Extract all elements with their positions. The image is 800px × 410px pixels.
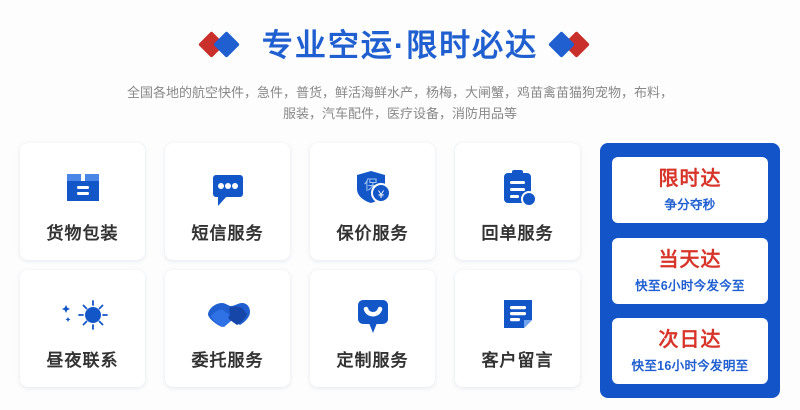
box-package-icon xyxy=(58,159,108,215)
diamond-pair-right-icon xyxy=(552,32,598,58)
page-header: 专业空运·限时必达 全国各地的航空快件，急件，普货，鲜活海鲜水产，杨梅，大闸蟹，… xyxy=(0,0,800,124)
service-card-sms[interactable]: 短信服务 xyxy=(165,143,290,260)
service-card-label: 货物包装 xyxy=(47,219,119,244)
page-subtitle: 全国各地的航空快件，急件，普货，鲜活海鲜水产，杨梅，大闸蟹，鸡苗禽苗猫狗宠物，布… xyxy=(120,82,680,124)
service-card-insurance[interactable]: 保 ¥ 保价服务 xyxy=(310,143,435,260)
service-card-label: 短信服务 xyxy=(192,219,264,244)
subtitle-line-2: 服装，汽车配件，医疗设备，消防用品等 xyxy=(120,103,680,124)
promo-subtitle: 快至6小时今发今至 xyxy=(635,275,745,294)
subtitle-line-1: 全国各地的航空快件，急件，普货，鲜活海鲜水产，杨梅，大闸蟹，鸡苗禽苗猫狗宠物，布… xyxy=(120,82,680,103)
promo-title: 次日达 xyxy=(659,328,722,352)
svg-text:¥: ¥ xyxy=(376,189,384,201)
delivery-speed-promo-panel: 限时达 争分夺秒 当天达 快至6小时今发今至 次日达 快至16小时今发明至 xyxy=(600,143,780,398)
sms-chat-bubble-icon xyxy=(203,159,253,215)
service-card-entrustment[interactable]: 委托服务 xyxy=(165,270,290,387)
speech-bubble-smile-icon xyxy=(348,286,398,342)
service-card-custom[interactable]: 定制服务 xyxy=(310,270,435,387)
promo-title: 限时达 xyxy=(659,167,722,191)
promo-title: 当天达 xyxy=(659,248,722,272)
title-row: 专业空运·限时必达 xyxy=(0,22,800,68)
shield-insurance-yuan-icon: 保 ¥ xyxy=(348,159,398,215)
service-card-receipt[interactable]: 回单服务 xyxy=(455,143,580,260)
service-card-label: 保价服务 xyxy=(337,219,409,244)
promo-item-next-day[interactable]: 次日达 快至16小时今发明至 xyxy=(612,318,768,384)
promo-item-limited-time[interactable]: 限时达 争分夺秒 xyxy=(612,157,768,223)
document-message-icon xyxy=(493,286,543,342)
service-card-label: 客户留言 xyxy=(482,346,554,371)
service-card-cargo-packaging[interactable]: 货物包装 xyxy=(20,143,145,260)
service-card-label: 委托服务 xyxy=(192,346,264,371)
service-card-label: 定制服务 xyxy=(337,346,409,371)
page-title: 专业空运·限时必达 xyxy=(262,30,538,61)
moon-sun-day-night-icon xyxy=(56,286,110,342)
blue-diamond-icon xyxy=(213,31,240,58)
service-card-label: 昼夜联系 xyxy=(47,346,119,371)
service-card-grid: 货物包装 短信服务 保 ¥ xyxy=(20,143,580,387)
promo-subtitle: 快至16小时今发明至 xyxy=(632,355,749,374)
diamond-pair-left-icon xyxy=(202,32,248,58)
body-area: 货物包装 短信服务 保 ¥ xyxy=(0,143,800,398)
service-card-customer-message[interactable]: 客户留言 xyxy=(455,270,580,387)
promo-subtitle: 争分夺秒 xyxy=(664,194,715,213)
service-card-label: 回单服务 xyxy=(482,219,554,244)
service-card-day-night-contact[interactable]: 昼夜联系 xyxy=(20,270,145,387)
promo-item-same-day[interactable]: 当天达 快至6小时今发今至 xyxy=(612,238,768,304)
clipboard-receipt-icon xyxy=(493,159,543,215)
handshake-icon xyxy=(202,286,254,342)
